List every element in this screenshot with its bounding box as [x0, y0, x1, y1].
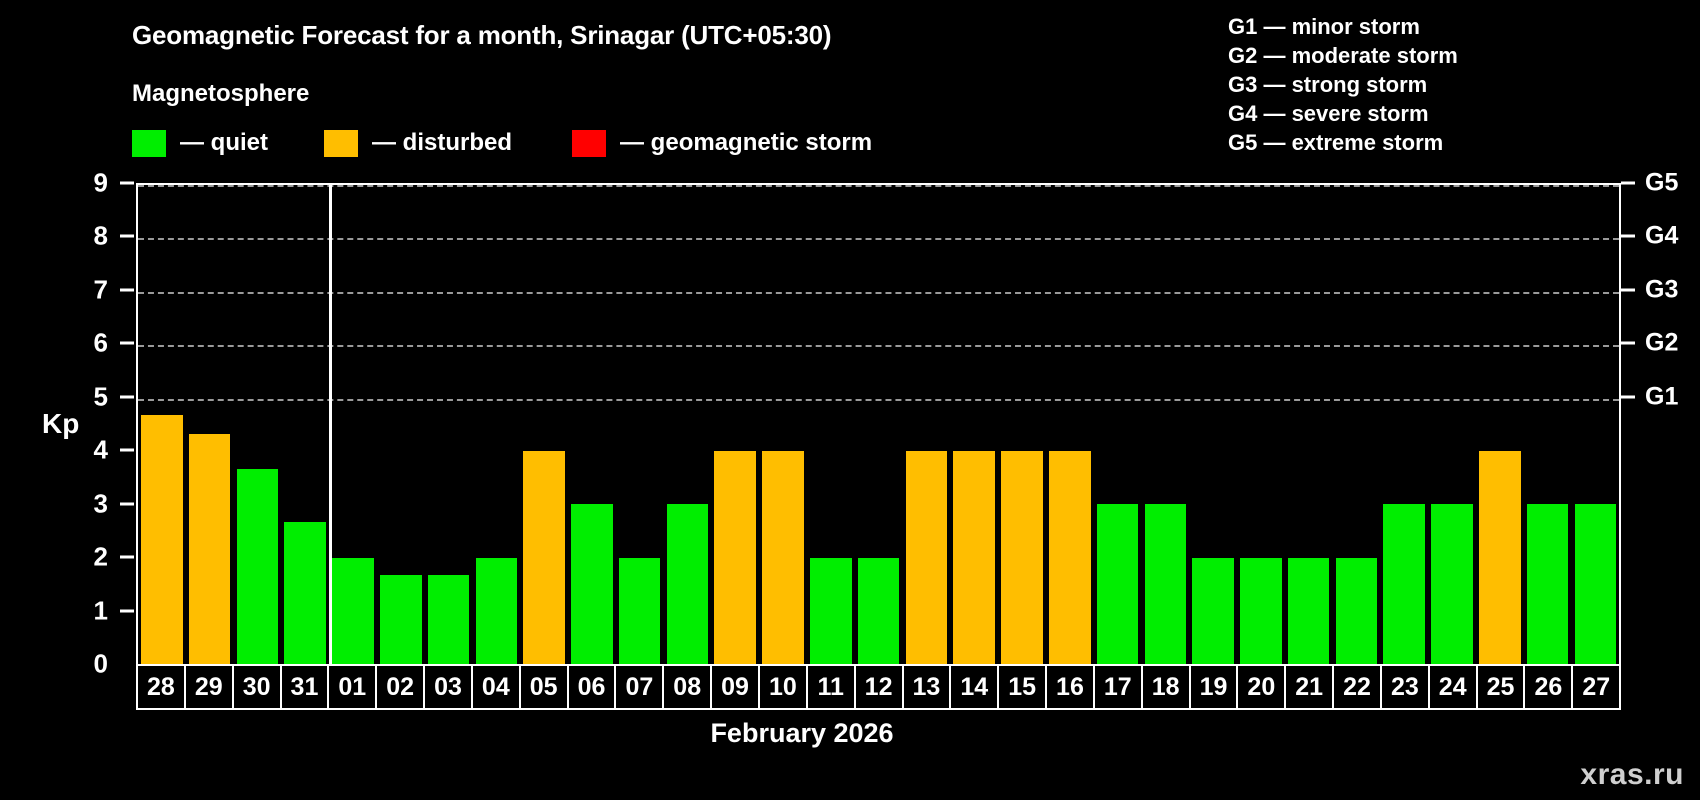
bar-slot[interactable] [1380, 185, 1428, 664]
day-label-01: 01 [327, 664, 377, 710]
bar-slot[interactable] [1094, 185, 1142, 664]
bar-slot[interactable] [281, 185, 329, 664]
month-divider-line [329, 185, 332, 664]
day-label-04: 04 [471, 664, 521, 710]
bar-day-25[interactable] [1479, 451, 1521, 664]
day-label-30: 30 [232, 664, 282, 710]
day-label-12: 12 [854, 664, 904, 710]
bar-slot[interactable] [759, 185, 807, 664]
bar-slot[interactable] [1571, 185, 1619, 664]
legend-item-quiet: — quiet [132, 129, 268, 157]
g-tick-mark-G2 [1621, 342, 1635, 345]
bar-slot[interactable] [998, 185, 1046, 664]
bar-slot[interactable] [186, 185, 234, 664]
bar-slot[interactable] [1476, 185, 1524, 664]
bar-day-15[interactable] [1001, 451, 1043, 664]
day-label-17: 17 [1093, 664, 1143, 710]
g-tick-mark-G1 [1621, 395, 1635, 398]
bar-slot[interactable] [520, 185, 568, 664]
day-label-22: 22 [1332, 664, 1382, 710]
bar-day-10[interactable] [762, 451, 804, 664]
day-label-14: 14 [949, 664, 999, 710]
bar-slot[interactable] [425, 185, 473, 664]
y-tick-label-2: 2 [94, 542, 108, 573]
g-tick-label-G1: G1 [1645, 382, 1678, 411]
y-tick-mark-2 [120, 556, 134, 559]
gscale-legend-line-1: G1 — minor storm [1228, 12, 1458, 41]
bar-slot[interactable] [903, 185, 951, 664]
g-tick-label-G3: G3 [1645, 275, 1678, 304]
storm-color-swatch [572, 130, 606, 157]
bar-day-07[interactable] [619, 558, 661, 664]
bar-day-01[interactable] [332, 558, 374, 664]
bar-day-12[interactable] [858, 558, 900, 664]
y-tick-label-1: 1 [94, 595, 108, 626]
bar-day-26[interactable] [1527, 504, 1569, 664]
bar-slot[interactable] [855, 185, 903, 664]
gscale-legend-line-2: G2 — moderate storm [1228, 41, 1458, 70]
bar-slot[interactable] [1333, 185, 1381, 664]
bar-day-08[interactable] [667, 504, 709, 664]
bar-slot[interactable] [1428, 185, 1476, 664]
day-label-20: 20 [1236, 664, 1286, 710]
bar-day-11[interactable] [810, 558, 852, 664]
month-label: February 2026 [0, 718, 1700, 749]
bar-slot[interactable] [616, 185, 664, 664]
bar-day-09[interactable] [714, 451, 756, 664]
watermark: xras.ru [1580, 758, 1684, 792]
legend-label-quiet: — quiet [180, 129, 268, 157]
bar-slot[interactable] [1141, 185, 1189, 664]
g-tick-label-G2: G2 [1645, 329, 1678, 358]
gscale-legend-line-3: G3 — strong storm [1228, 70, 1458, 99]
disturbed-color-swatch [324, 130, 358, 157]
bar-slot[interactable] [1046, 185, 1094, 664]
g-scale-axis: G1G2G3G4G5 [1621, 183, 1700, 664]
magnetosphere-legend: — quiet — disturbed — geomagnetic storm [132, 128, 872, 158]
y-tick-label-7: 7 [94, 274, 108, 305]
bar-slot[interactable] [377, 185, 425, 664]
bar-slot[interactable] [568, 185, 616, 664]
bar-day-17[interactable] [1097, 504, 1139, 664]
g-tick-mark-G3 [1621, 288, 1635, 291]
day-label-27: 27 [1571, 664, 1621, 710]
page-title: Geomagnetic Forecast for a month, Srinag… [132, 20, 831, 51]
day-axis: 2829303101020304050607080910111213141516… [136, 664, 1621, 710]
g-tick-label-G5: G5 [1645, 169, 1678, 198]
bar-slot[interactable] [711, 185, 759, 664]
y-tick-mark-3 [120, 502, 134, 505]
bar-day-22[interactable] [1336, 558, 1378, 664]
y-tick-label-6: 6 [94, 328, 108, 359]
y-tick-mark-8 [120, 235, 134, 238]
y-tick-mark-6 [120, 342, 134, 345]
day-label-07: 07 [614, 664, 664, 710]
day-label-24: 24 [1428, 664, 1478, 710]
day-label-09: 09 [710, 664, 760, 710]
bar-slot[interactable] [807, 185, 855, 664]
y-tick-label-9: 9 [94, 168, 108, 199]
plot-area [136, 183, 1621, 664]
y-tick-mark-9 [120, 182, 134, 185]
plot-inner [138, 185, 1619, 664]
y-tick-mark-4 [120, 449, 134, 452]
bar-slot[interactable] [1285, 185, 1333, 664]
y-tick-label-3: 3 [94, 488, 108, 519]
bar-day-28[interactable] [141, 415, 183, 664]
y-tick-label-5: 5 [94, 381, 108, 412]
gscale-legend-line-5: G5 — extreme storm [1228, 128, 1458, 157]
bar-day-14[interactable] [953, 451, 995, 664]
kp-axis: 0123456789Kp [0, 183, 136, 664]
bar-day-03[interactable] [428, 575, 470, 664]
day-label-13: 13 [902, 664, 952, 710]
bar-day-19[interactable] [1192, 558, 1234, 664]
bar-day-30[interactable] [237, 469, 279, 664]
bar-slot[interactable] [1189, 185, 1237, 664]
day-label-05: 05 [519, 664, 569, 710]
bar-day-20[interactable] [1240, 558, 1282, 664]
bar-slot[interactable] [138, 185, 186, 664]
magnetosphere-heading: Magnetosphere [132, 80, 309, 108]
bar-day-24[interactable] [1431, 504, 1473, 664]
y-tick-mark-7 [120, 288, 134, 291]
bar-day-21[interactable] [1288, 558, 1330, 664]
bar-day-05[interactable] [523, 451, 565, 664]
day-label-19: 19 [1189, 664, 1239, 710]
bar-day-02[interactable] [380, 575, 422, 664]
y-tick-label-4: 4 [94, 435, 108, 466]
day-label-18: 18 [1141, 664, 1191, 710]
legend-item-disturbed: — disturbed [324, 129, 512, 157]
quiet-color-swatch [132, 130, 166, 157]
g-scale-legend: G1 — minor stormG2 — moderate stormG3 — … [1228, 12, 1458, 157]
day-label-06: 06 [567, 664, 617, 710]
month-label-text: February 2026 [710, 718, 893, 748]
legend-item-storm: — geomagnetic storm [572, 129, 872, 157]
bar-day-27[interactable] [1575, 504, 1617, 664]
day-label-10: 10 [758, 664, 808, 710]
bar-day-06[interactable] [571, 504, 613, 664]
bar-day-31[interactable] [284, 522, 326, 664]
day-label-15: 15 [997, 664, 1047, 710]
bars [138, 185, 1619, 664]
bar-slot[interactable] [1237, 185, 1285, 664]
bar-day-18[interactable] [1145, 504, 1187, 664]
day-label-26: 26 [1523, 664, 1573, 710]
day-label-16: 16 [1045, 664, 1095, 710]
g-tick-label-G4: G4 [1645, 222, 1678, 251]
bar-slot[interactable] [1524, 185, 1572, 664]
day-label-11: 11 [806, 664, 856, 710]
legend-label-disturbed: — disturbed [372, 129, 512, 157]
day-label-29: 29 [184, 664, 234, 710]
bar-slot[interactable] [664, 185, 712, 664]
bar-day-29[interactable] [189, 434, 231, 664]
day-label-03: 03 [423, 664, 473, 710]
g-tick-mark-G4 [1621, 235, 1635, 238]
bar-day-04[interactable] [476, 558, 518, 664]
day-label-21: 21 [1284, 664, 1334, 710]
legend-label-storm: — geomagnetic storm [620, 129, 872, 157]
day-label-23: 23 [1380, 664, 1430, 710]
gscale-legend-line-4: G4 — severe storm [1228, 99, 1458, 128]
bar-slot[interactable] [234, 185, 282, 664]
bar-slot[interactable] [472, 185, 520, 664]
day-label-31: 31 [280, 664, 330, 710]
y-tick-label-0: 0 [94, 649, 108, 680]
bar-day-23[interactable] [1383, 504, 1425, 664]
bar-day-16[interactable] [1049, 451, 1091, 664]
g-tick-mark-G5 [1621, 182, 1635, 185]
geomagnetic-forecast-chart: Geomagnetic Forecast for a month, Srinag… [0, 0, 1700, 800]
day-label-02: 02 [375, 664, 425, 710]
y-axis-title: Kp [42, 408, 79, 440]
bar-slot[interactable] [329, 185, 377, 664]
day-label-28: 28 [136, 664, 186, 710]
y-tick-mark-5 [120, 395, 134, 398]
bar-day-13[interactable] [906, 451, 948, 664]
bar-slot[interactable] [950, 185, 998, 664]
day-label-08: 08 [662, 664, 712, 710]
y-tick-label-8: 8 [94, 221, 108, 252]
y-tick-mark-1 [120, 609, 134, 612]
day-label-25: 25 [1476, 664, 1526, 710]
